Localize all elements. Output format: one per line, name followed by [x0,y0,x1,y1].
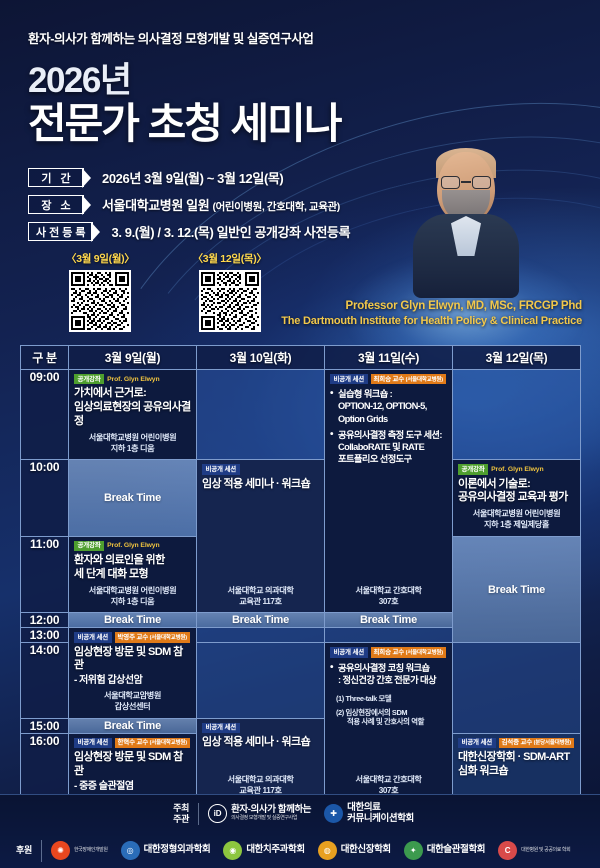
logo-kdca[interactable]: ✺ 한국장애인개발원 [51,841,108,860]
logo-knee-icon: ✦ [404,841,423,860]
cell-day11-break1: Break Time [325,613,453,628]
cell-day9-break1: Break Time [69,460,197,537]
info-value-venue: 서울대학교병원 일원 (어린이병원, 간호대학, 교육관) [102,195,340,214]
page-title: 전문가 초청 세미나 [28,101,600,146]
session-badges: 비공개 세션 [202,723,319,733]
cell-day12-session1[interactable]: 공개강좌 Prof. Glyn Elwyn 이론에서 기술로: 공유의사결정 교… [453,460,581,537]
logo-kammc-icon: ✚ [324,804,343,823]
logo-pdsd-sub: 의사결정 모형개발 및 실증연구사업 [231,816,311,822]
session-venue: 서울대학교 의과대학 교육관 117호 [202,582,319,608]
glasses-icon [440,176,492,189]
table-row: 09:00 공개강좌 Prof. Glyn Elwyn 가치에서 근거로: 임상… [21,370,581,460]
session-venue: 서울대학교병원 어린이병원 지하 1층 디움 [74,582,191,608]
presenter-name: Prof. Glyn Elwyn [491,466,543,473]
logo-kdca-icon: ✺ [51,841,70,860]
session-venue: 서울대학교 의과대학 교육관 117호 [202,771,319,797]
bullet1-line1: 실습형 워크숍 : [338,389,392,399]
footer-logos: 주최 주관 iD 환자-의사가 함께하는 의사결정 모형개발 및 실증연구사업 … [0,794,600,868]
presenter-kr-name: 최희승 교수 [374,649,405,656]
cell-day11-empty-1300 [325,628,453,643]
time-label-1400: 14:00 [21,643,69,719]
session-venue: 서울대학교 간호대학 307호 [330,771,447,797]
session-title-line2: 세 단계 대화 모형 [74,568,191,582]
time-label-1300: 13:00 [21,628,69,643]
sponsor-row: 후원 ✺ 한국장애인개발원 ◎ 대한정형외과학회 ◉ 대한치주과학회 ◍ 대한신… [0,832,600,868]
cell-day11-session2[interactable]: 비공개 세션 최희승 교수 (서울대학교병원) 공유의사결정 코칭 워크숍 : … [325,643,453,802]
presenter-name: 최희승 교수 (서울대학교병원) [371,374,446,384]
badge-closed-session: 비공개 세션 [330,374,368,384]
time-label-0900: 09:00 [21,370,69,460]
bullet1-line2: OPTION-12, OPTION-5, [338,401,427,411]
session-title-line1: 임상현장 방문 및 SDM 참관 [74,751,191,779]
logo-periodontology-icon: ◉ [223,841,242,860]
presenter-affiliation: (서울대학교병원) [150,740,187,746]
bullet2-line2: CollaboRATE 및 RATE [338,442,424,452]
cell-day9-session1[interactable]: 공개강좌 Prof. Glyn Elwyn 가치에서 근거로: 임상의료현장의 … [69,370,197,460]
session-title-line2: 심화 워크숍 [458,765,575,779]
time-label-1000: 10:00 [21,460,69,537]
empty-slot [197,643,324,718]
logo-kdca-sub: 한국장애인개발원 [74,848,108,854]
venue-line1: 서울대학교 의과대학 [202,775,319,786]
session-bullet-1: 실습형 워크숍 : OPTION-12, OPTION-5, Option Gr… [330,388,447,425]
logo-pdsd[interactable]: iD 환자-의사가 함께하는 의사결정 모형개발 및 실증연구사업 [208,804,311,823]
cell-day12-break1: Break Time [453,536,581,643]
badge-closed-session: 비공개 세션 [202,464,240,474]
speaker-affiliation: The Dartmouth Institute for Health Polic… [281,315,582,327]
session-title-line1: 대한신장학회 · SDM-ART [458,751,575,765]
presenter-kr-name: 한혁수 교수 [118,739,149,746]
badge-open-lecture: 공개강좌 [74,374,104,384]
presenter-kr-name: 김석중 교수 [502,739,533,746]
session-badges: 비공개 세션 김석중 교수 (분당서울대병원) [458,738,575,748]
presenter-affiliation: (서울대학교병원) [150,635,187,641]
speaker-name: Professor Glyn Elwyn, MD, MSc, FRCGP Phd [281,300,582,312]
session-title-line2: - 중증 슬관절염 [74,780,191,793]
presenter-kr-name: 최희승 교수 [374,376,405,383]
qr-label-march-12: 〈3월 12일(목)〉 [193,251,267,266]
session-bullet-2: 공유의사결정 측정 도구 세션: CollaboRATE 및 RATE 포트폴리… [330,429,447,466]
schedule-table-wrap: 구 분 3월 9일(월) 3월 10일(화) 3월 11일(수) 3월 12일(… [20,345,580,785]
cell-day12-empty-0900 [453,370,581,460]
session-title-line2: 임상의료현장의 공유의사결정 [74,401,191,429]
bullet1-line1: 공유의사결정 코칭 워크숍 [338,663,429,673]
logo-kdca-text: 한국장애인개발원 [74,848,108,854]
session-title-line1: 가치에서 근거로: [74,387,191,401]
venue-line1: 서울대학교 의과대학 [202,586,319,597]
session-subitem-2: (2) 임상현장에서의 SDM 적용 사례 및 간호사의 역할 [330,708,447,727]
qr-code-march-12[interactable] [199,270,261,332]
session-card: 비공개 세션 최희승 교수 (서울대학교병원) 실습형 워크숍 : OPTION… [325,370,452,612]
cell-day10-break1: Break Time [197,613,325,628]
session-badges: 공개강좌 Prof. Glyn Elwyn [74,374,191,384]
cell-day10-empty-1400 [197,643,325,719]
column-header-march-11: 3월 11일(수) [325,346,453,370]
cell-day10-empty-0900 [197,370,325,460]
break-time: Break Time [325,613,452,627]
logo-periodontology-text: 대한치주과학회 [246,845,304,856]
session-badges: 비공개 세션 박영주 교수 (서울대학교병원) [74,632,191,642]
session-badges: 공개강좌 Prof. Glyn Elwyn [458,464,575,474]
logo-orthopaedic-icon: ◎ [121,841,140,860]
venue-line1: 서울대학교 간호대학 [330,586,447,597]
session-badges: 비공개 세션 한혁수 교수 (서울대학교병원) [74,738,191,748]
venue-line1: 서울대학교 간호대학 [330,775,447,786]
logo-orthopaedic-text: 대한정형외과학회 [144,845,211,856]
lens-right [472,176,491,189]
venue-line1: 서울대학교병원 어린이병원 [458,509,575,520]
logo-last-text: 대한병원 및 공공의료 학회 [521,848,570,854]
logo-pdsd-text: 환자-의사가 함께하는 의사결정 모형개발 및 실증연구사업 [231,805,311,822]
session-title-line1: 임상현장 방문 및 SDM 참관 [74,646,191,674]
qr-block-march-9: 〈3월 9일(월)〉 [66,251,135,332]
venue-line2: 지하 1층 제일제당홀 [458,520,575,531]
session-title-line1: 임상 적용 세미나 · 워크숍 [202,478,319,492]
subitem2-line1: (2) 임상현장에서의 SDM [336,708,407,717]
session-title-line2: - 저위험 갑상선암 [74,674,191,687]
presenter-name: 한혁수 교수 (서울대학교병원) [115,738,190,748]
break-time: Break Time [197,613,324,627]
presenter-affiliation: (서울대학교병원) [406,377,443,383]
poster-year: 2026년 [28,63,600,99]
logo-last[interactable]: C 대한병원 및 공공의료 학회 [498,841,570,860]
session-card: 비공개 세션 박영주 교수 (서울대학교병원) 임상현장 방문 및 SDM 참관… [69,628,196,718]
info-label-venue: 장 소 [28,195,84,214]
logo-periodontology[interactable]: ◉ 대한치주과학회 [223,841,304,860]
session-subitem-1: (1) Three-talk 모델 [330,694,447,704]
presenter-name: Prof. Glyn Elwyn [107,376,159,383]
logo-orthopaedic[interactable]: ◎ 대한정형외과학회 [121,841,211,860]
logo-kammc-text: 대한의료 커뮤니케이션학회 [347,803,414,825]
logo-kammc[interactable]: ✚ 대한의료 커뮤니케이션학회 [324,803,414,825]
host-label-line2: 주관 [173,814,189,824]
logo-pdsd-name: 환자-의사가 함께하는 [231,804,311,815]
session-venue: 서울대학교 간호대학 307호 [330,582,447,608]
break-time: Break Time [69,719,196,733]
presenter-name: Prof. Glyn Elwyn [107,542,159,549]
time-label-1600: 16:00 [21,733,69,802]
bullet1-line3: Option Grids [338,414,388,424]
session-card: 공개강좌 Prof. Glyn Elwyn 가치에서 근거로: 임상의료현장의 … [69,370,196,459]
speaker-portrait [410,146,522,298]
logo-kammc-name2: 커뮤니케이션학회 [347,813,414,824]
session-bullets: 실습형 워크숍 : OPTION-12, OPTION-5, Option Gr… [330,388,447,470]
session-bullets: 공유의사결정 코칭 워크숍 : 정신건강 간호 전문가 대상 [330,662,447,691]
session-card: 비공개 세션 최희승 교수 (서울대학교병원) 공유의사결정 코칭 워크숍 : … [325,643,452,801]
logo-nephrology[interactable]: ◍ 대한신장학회 [318,841,391,860]
session-card: 비공개 세션 임상 적용 세미나 · 워크숍 서울대학교 의과대학 교육관 11… [197,719,324,802]
time-label-1200: 12:00 [21,613,69,628]
info-value-period: 2026년 3월 9일(월) ~ 3월 12일(목) [102,168,283,187]
empty-slot [197,370,324,459]
empty-slot [453,370,580,459]
session-card: 공개강좌 Prof. Glyn Elwyn 이론에서 기술로: 공유의사결정 교… [453,460,580,536]
logo-kammc-name: 대한의료 [347,802,380,813]
project-kicker: 환자-의사가 함께하는 의사결정 모형개발 및 실증연구사업 [28,28,600,47]
session-title-line1: 이론에서 기술로: [458,478,575,492]
cell-day11-session1[interactable]: 비공개 세션 최희승 교수 (서울대학교병원) 실습형 워크숍 : OPTION… [325,370,453,613]
presenter-affiliation: (분당서울대병원) [534,740,571,746]
session-badges: 비공개 세션 최희승 교수 (서울대학교병원) [330,647,447,657]
session-title-line2: 공유의사결정 교육과 평가 [458,491,575,505]
venue-line1: 서울대학교병원 어린이병원 [74,433,191,444]
qr-block-march-12: 〈3월 12일(목)〉 [193,251,267,332]
badge-open-lecture: 공개강좌 [458,464,488,474]
cell-day12-empty-1400 [453,643,581,734]
logo-last-icon: C [498,841,517,860]
session-bullet-1: 공유의사결정 코칭 워크숍 : 정신건강 간호 전문가 대상 [330,662,447,687]
presenter-kr-name: 박영주 교수 [118,634,149,641]
break-time: Break Time [453,537,580,643]
glasses-bridge [461,181,471,183]
bullet2-line1: 공유의사결정 측정 도구 세션: [338,430,442,440]
table-header-row: 구 분 3월 9일(월) 3월 10일(화) 3월 11일(수) 3월 12일(… [21,346,581,370]
badge-closed-session: 비공개 세션 [74,738,112,748]
badge-closed-session: 비공개 세션 [330,647,368,657]
cell-day9-session3[interactable]: 비공개 세션 박영주 교수 (서울대학교병원) 임상현장 방문 및 SDM 참관… [69,628,197,719]
logo-knee[interactable]: ✦ 대한슬관절학회 [404,841,485,860]
time-label-1100: 11:00 [21,536,69,613]
badge-closed-session: 비공개 세션 [74,632,112,642]
presenter-name: 박영주 교수 (서울대학교병원) [115,632,190,642]
footer-divider [198,803,199,825]
venue-line2: 갑상선센터 [74,702,191,713]
table-row: 10:00 Break Time 비공개 세션 임상 적용 세미나 · 워크숍 [21,460,581,537]
venue-line1: 서울대학교암병원 [74,691,191,702]
logo-pdsd-icon: iD [208,804,227,823]
cell-day9-break2: Break Time [69,613,197,628]
host-label-line1: 주최 [173,803,189,813]
presenter-name: 김석중 교수 (분당서울대병원) [499,738,574,748]
session-badges: 비공개 세션 최희승 교수 (서울대학교병원) [330,374,447,384]
cell-day10-session1[interactable]: 비공개 세션 임상 적용 세미나 · 워크숍 서울대학교 의과대학 교육관 11… [197,460,325,613]
break-time: Break Time [69,460,196,536]
venue-line2: 지하 1층 디움 [74,597,191,608]
empty-slot [325,628,452,642]
badge-closed-session: 비공개 세션 [202,723,240,733]
logo-nephrology-icon: ◍ [318,841,337,860]
subitem2-line2: 적용 사례 및 간호사의 역할 [336,717,447,727]
sponsor-label: 후원 [16,845,32,855]
bullet1-line2: : 정신건강 간호 전문가 대상 [338,675,436,685]
column-header-march-10: 3월 10일(화) [197,346,325,370]
cell-day10-empty-1300 [197,628,325,643]
session-title-line1: 환자와 의료인을 위한 [74,554,191,568]
empty-slot [197,628,324,642]
info-label-period: 기 간 [28,168,84,187]
venue-line2: 지하 1층 디움 [74,444,191,455]
session-venue: 서울대학교병원 어린이병원 지하 1층 제일제당홀 [458,505,575,531]
venue-line2: 교육관 117호 [202,597,319,608]
session-venue: 서울대학교암병원 갑상선센터 [74,687,191,713]
cell-day9-break3: Break Time [69,718,197,733]
logo-knee-text: 대한슬관절학회 [427,845,485,856]
qr-label-march-9: 〈3월 9일(월)〉 [66,251,135,266]
info-venue-main: 서울대학교병원 일원 [102,198,209,213]
lens-left [441,176,460,189]
bullet2-line3: 포트폴리오 선정도구 [338,454,412,464]
host-row: 주최 주관 iD 환자-의사가 함께하는 의사결정 모형개발 및 실증연구사업 … [0,795,600,832]
session-badges: 비공개 세션 [202,464,319,474]
seminar-poster: 환자-의사가 함께하는 의사결정 모형개발 및 실증연구사업 2026년 전문가… [0,0,600,868]
info-value-registration: 3. 9.(월) / 3. 12.(목) 일반인 공개강좌 사전등록 [111,222,350,241]
footer-divider-2 [41,840,42,862]
break-time: Break Time [69,613,196,627]
schedule-table: 구 분 3월 9일(월) 3월 10일(화) 3월 11일(수) 3월 12일(… [20,345,581,839]
session-card: 공개강좌 Prof. Glyn Elwyn 환자와 의료인을 위한 세 단계 대… [69,537,196,613]
empty-slot [453,643,580,733]
badge-open-lecture: 공개강좌 [74,541,104,551]
session-badges: 공개강좌 Prof. Glyn Elwyn [74,541,191,551]
info-label-registration: 사전등록 [28,222,93,241]
speaker-credit: Professor Glyn Elwyn, MD, MSc, FRCGP Phd… [281,300,582,327]
logo-last-sub: 대한병원 및 공공의료 학회 [521,848,570,854]
cell-day9-session2[interactable]: 공개강좌 Prof. Glyn Elwyn 환자와 의료인을 위한 세 단계 대… [69,536,197,613]
cell-day10-session2[interactable]: 비공개 세션 임상 적용 세미나 · 워크숍 서울대학교 의과대학 교육관 11… [197,718,325,802]
time-label-1500: 15:00 [21,718,69,733]
column-header-march-12: 3월 12일(목) [453,346,581,370]
venue-line2: 307호 [330,597,447,608]
session-title-line1: 임상 적용 세미나 · 워크숍 [202,736,319,750]
column-header-march-9: 3월 9일(월) [69,346,197,370]
venue-line1: 서울대학교병원 어린이병원 [74,586,191,597]
qr-code-march-9[interactable] [69,270,131,332]
logo-nephrology-text: 대한신장학회 [341,845,391,856]
presenter-name: 최희승 교수 (서울대학교병원) [371,647,446,657]
column-header-division: 구 분 [21,346,69,370]
presenter-affiliation: (서울대학교병원) [406,650,443,656]
session-venue: 서울대학교병원 어린이병원 지하 1층 디움 [74,429,191,455]
badge-closed-session: 비공개 세션 [458,738,496,748]
session-card: 비공개 세션 임상 적용 세미나 · 워크숍 서울대학교 의과대학 교육관 11… [197,460,324,612]
host-label: 주최 주관 [173,803,189,824]
info-venue-note: (어린이병원, 간호대학, 교육관) [212,201,339,213]
